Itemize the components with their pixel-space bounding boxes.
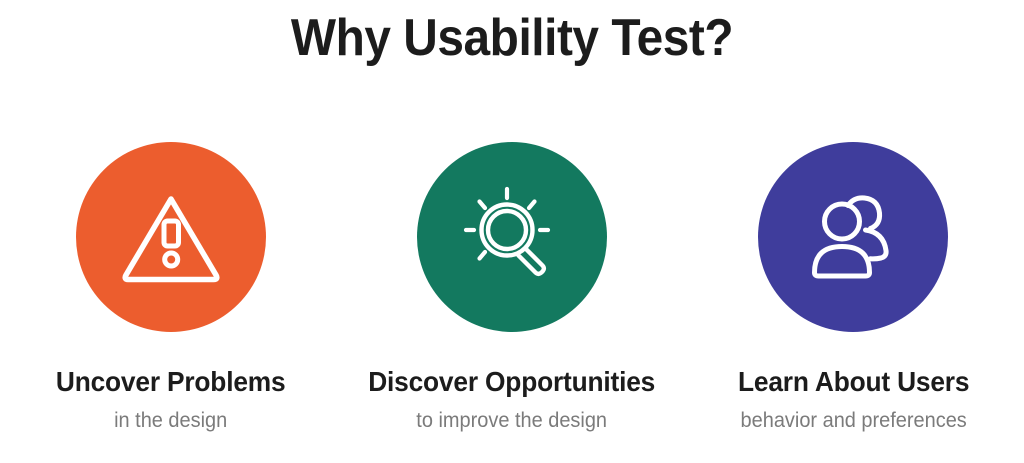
caption-subtext: in the design — [9, 408, 333, 433]
caption-heading: Learn About Users — [693, 366, 1014, 398]
caption-heading: Uncover Problems — [10, 366, 331, 398]
caption-learn-about-users: Learn About Users behavior and preferenc… — [683, 366, 1024, 433]
icon-circle-uncover-problems — [76, 142, 266, 332]
icon-circle-discover-opportunities — [417, 142, 607, 332]
column-learn-about-users: Learn About Users behavior and preferenc… — [683, 142, 1024, 433]
warning-triangle-icon — [119, 189, 223, 285]
two-users-icon — [801, 188, 905, 286]
column-uncover-problems: Uncover Problems in the design — [0, 142, 341, 433]
caption-uncover-problems: Uncover Problems in the design — [0, 366, 341, 433]
caption-heading: Discover Opportunities — [352, 366, 673, 398]
caption-discover-opportunities: Discover Opportunities to improve the de… — [341, 366, 682, 433]
icon-circle-learn-about-users — [758, 142, 948, 332]
benefit-columns: Uncover Problems in the design — [0, 142, 1024, 433]
caption-subtext: to improve the design — [350, 408, 674, 433]
slide-canvas: Why Usability Test? Uncover Problems in … — [0, 0, 1024, 463]
caption-subtext: behavior and preferences — [691, 408, 1015, 433]
page-title: Why Usability Test? — [41, 6, 983, 70]
magnifying-glass-rays-icon — [457, 182, 567, 292]
column-discover-opportunities: Discover Opportunities to improve the de… — [341, 142, 682, 433]
